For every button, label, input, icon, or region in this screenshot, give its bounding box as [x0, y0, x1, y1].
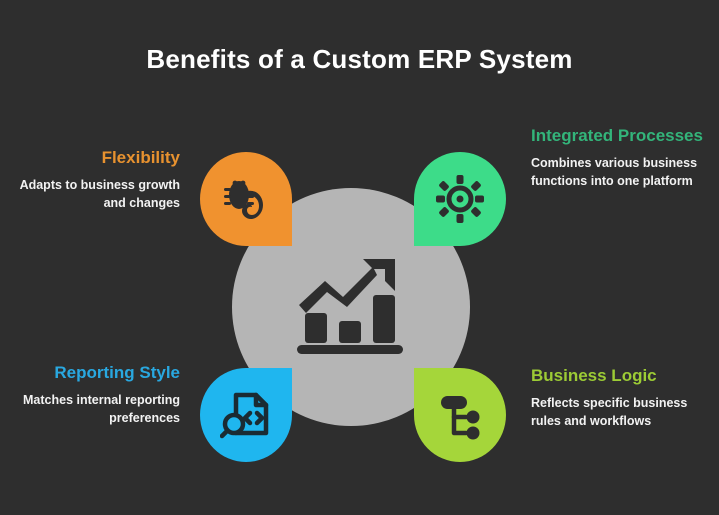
- benefit-text-flexibility: Flexibility Adapts to business growth an…: [10, 148, 180, 212]
- benefit-icon-integrated-processes[interactable]: [414, 152, 506, 246]
- benefit-heading-integrated-processes: Integrated Processes: [531, 126, 709, 147]
- benefit-heading-business-logic: Business Logic: [531, 366, 709, 387]
- infographic-canvas: Benefits of a Custom ERP System: [0, 0, 719, 515]
- benefit-description-flexibility: Adapts to business growth and changes: [10, 176, 180, 212]
- benefit-heading-reporting-style: Reporting Style: [10, 363, 180, 384]
- benefit-text-reporting-style: Reporting Style Matches internal reporti…: [10, 363, 180, 427]
- benefit-text-business-logic: Business Logic Reflects specific busines…: [531, 366, 709, 430]
- benefit-icon-flexibility[interactable]: [200, 152, 292, 246]
- benefit-description-business-logic: Reflects specific business rules and wor…: [531, 394, 709, 430]
- page-title: Benefits of a Custom ERP System: [0, 44, 719, 75]
- benefit-heading-flexibility: Flexibility: [10, 148, 180, 169]
- benefit-icon-business-logic[interactable]: [414, 368, 506, 462]
- benefit-description-reporting-style: Matches internal reporting preferences: [10, 391, 180, 427]
- benefit-description-integrated-processes: Combines various business functions into…: [531, 154, 709, 190]
- benefit-text-integrated-processes: Integrated Processes Combines various bu…: [531, 126, 709, 190]
- benefit-icon-reporting-style[interactable]: [200, 368, 292, 462]
